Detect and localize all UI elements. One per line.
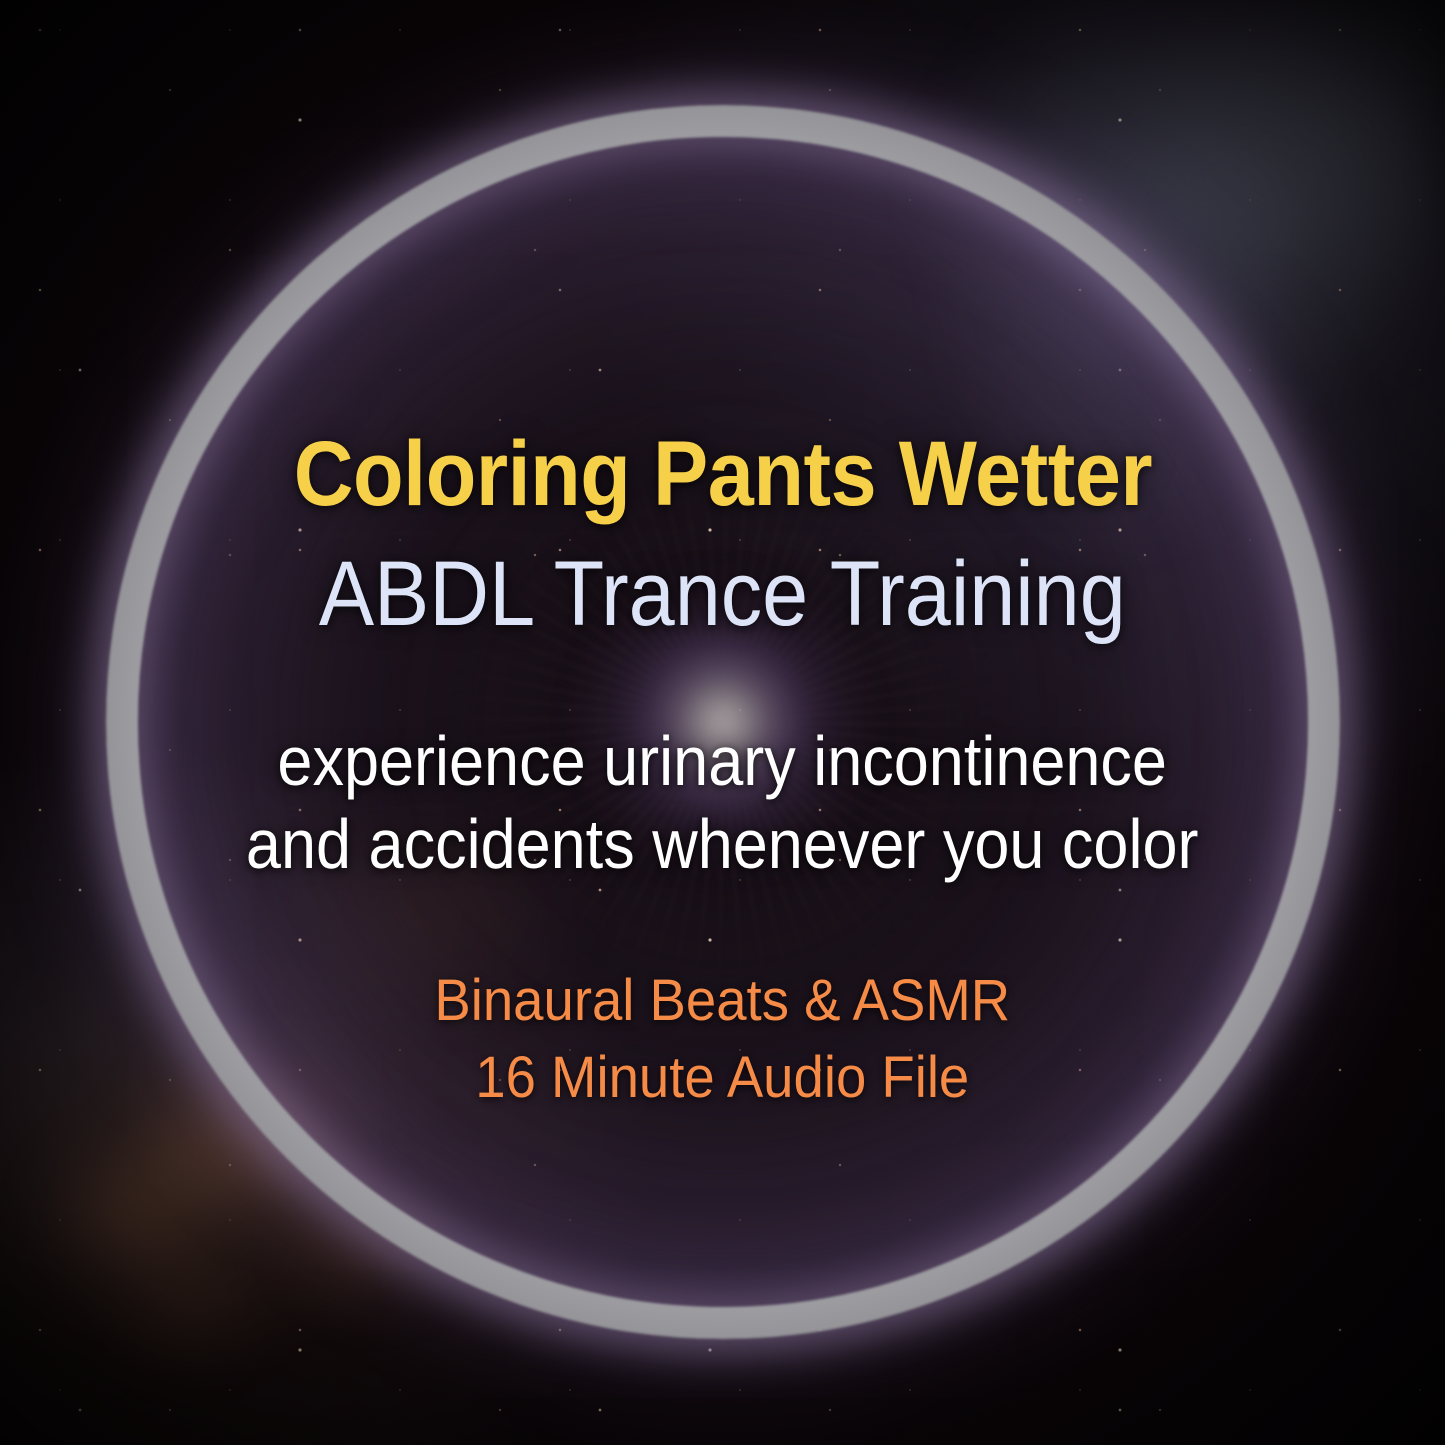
poster-description: experience urinary incontinence and acci… xyxy=(246,720,1199,885)
poster-title: Coloring Pants Wetter xyxy=(293,428,1152,520)
poster-text-block: Coloring Pants Wetter ABDL Trance Traini… xyxy=(0,0,1445,1445)
poster-meta: Binaural Beats & ASMR 16 Minute Audio Fi… xyxy=(435,963,1011,1116)
meta-line-format: Binaural Beats & ASMR xyxy=(435,963,1011,1040)
description-line-1: experience urinary incontinence xyxy=(246,720,1199,803)
meta-line-duration: 16 Minute Audio File xyxy=(435,1040,1011,1117)
poster-subtitle: ABDL Trance Training xyxy=(319,548,1126,640)
poster-canvas: Coloring Pants Wetter ABDL Trance Traini… xyxy=(0,0,1445,1445)
description-line-2: and accidents whenever you color xyxy=(246,803,1199,886)
